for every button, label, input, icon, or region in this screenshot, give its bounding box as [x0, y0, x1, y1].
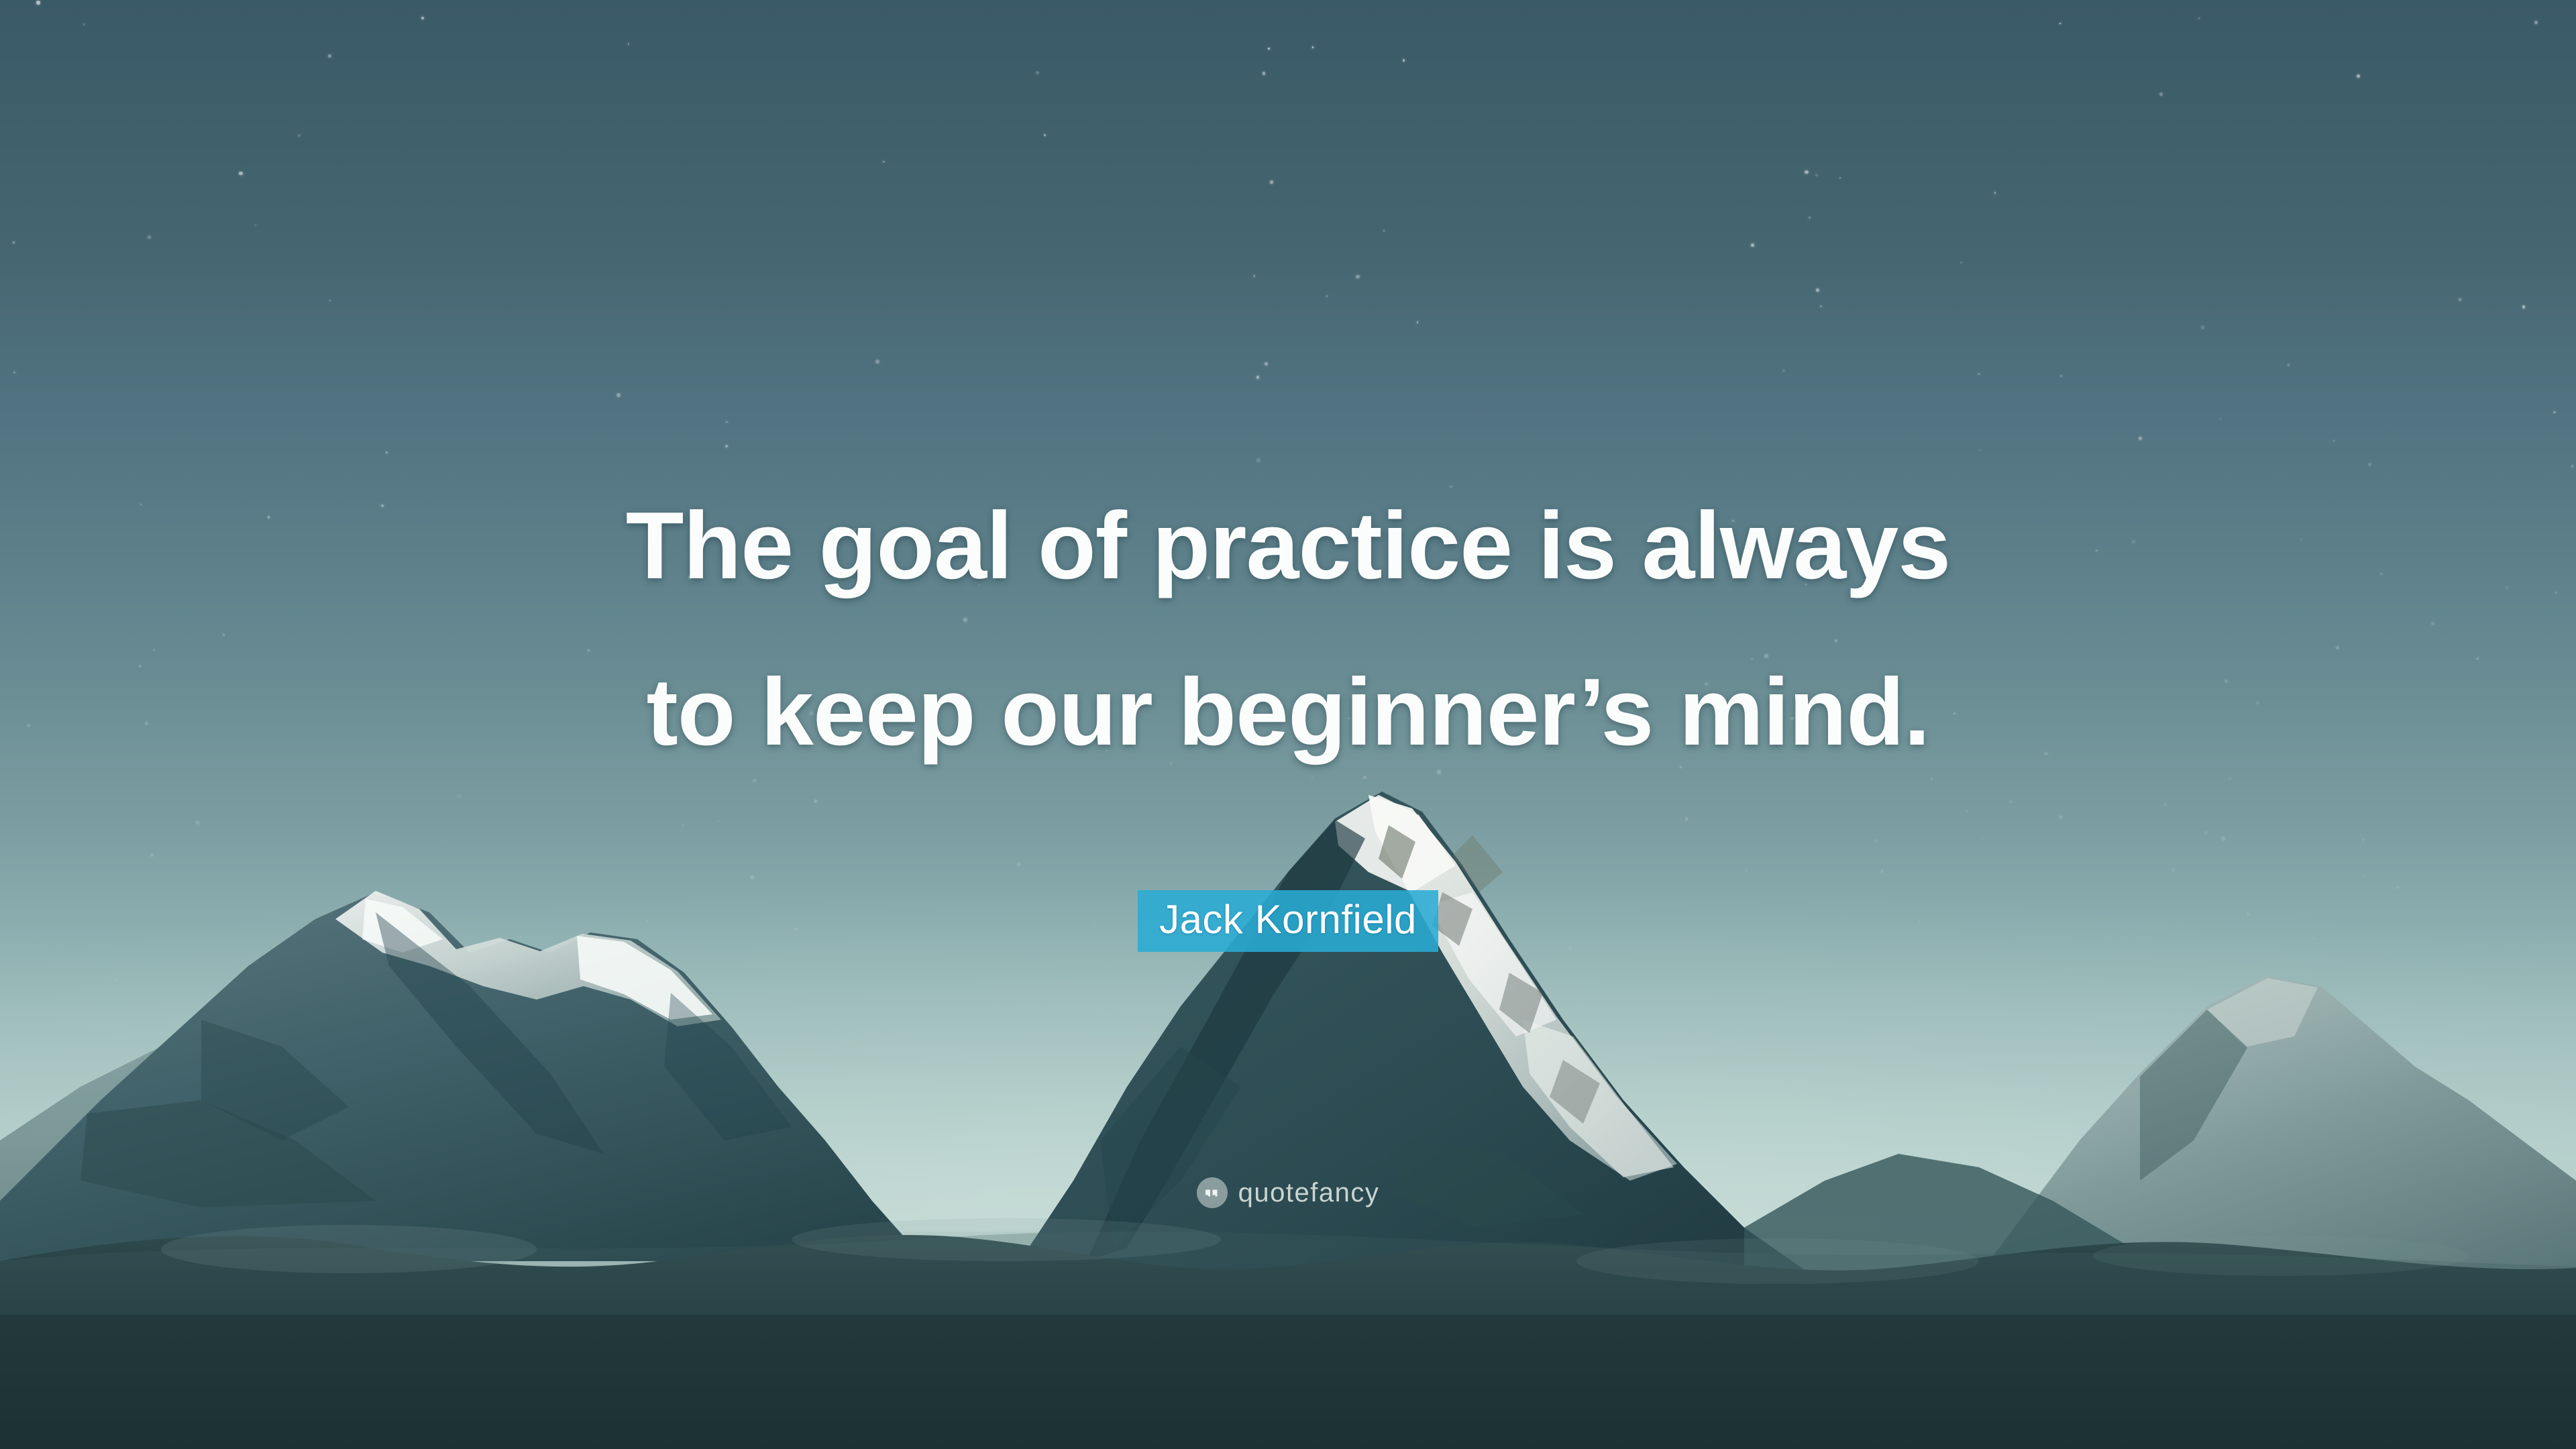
quote-text: The goal of practice is always to keep o… — [0, 463, 2576, 796]
quotefancy-watermark[interactable]: quotefancy — [0, 1177, 2576, 1208]
author-attribution: Jack Kornfield — [0, 890, 2576, 952]
quote-poster: The goal of practice is always to keep o… — [0, 0, 2576, 1449]
quote-line-2: to keep our beginner’s mind. — [0, 629, 2576, 796]
quotefancy-brand: quotefancy — [1238, 1178, 1380, 1207]
author-name: Jack Kornfield — [1138, 890, 1438, 952]
quote-line-1: The goal of practice is always — [0, 463, 2576, 629]
double-quote-icon — [1197, 1177, 1228, 1208]
